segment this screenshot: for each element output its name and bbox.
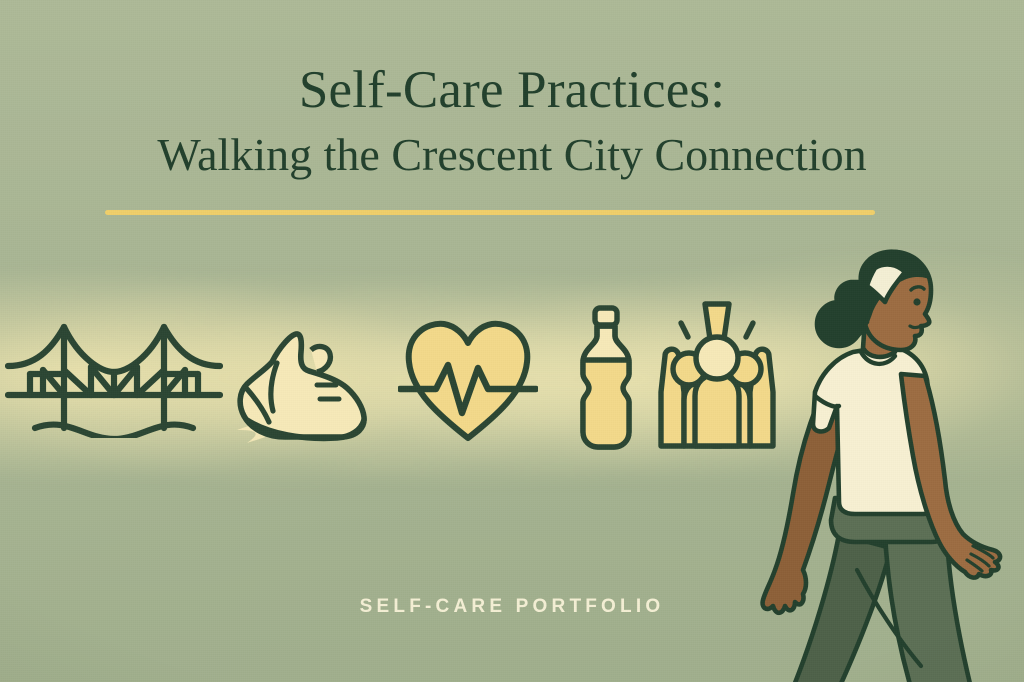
page-title: Self-Care Practices: (0, 62, 1024, 118)
title-block: Self-Care Practices: Walking the Crescen… (0, 62, 1024, 181)
footer-label: SELF-CARE PORTFOLIO (0, 596, 1024, 618)
page-subtitle: Walking the Crescent City Connection (0, 130, 1024, 181)
gold-rule-divider (105, 210, 875, 215)
running-shoe-icon (233, 312, 381, 452)
bridge-icon (5, 316, 223, 438)
water-bottle-icon (570, 304, 642, 452)
icon-row (0, 296, 790, 456)
heart-pulse-icon (398, 310, 538, 450)
poster-canvas: Self-Care Practices: Walking the Crescen… (0, 0, 1024, 682)
